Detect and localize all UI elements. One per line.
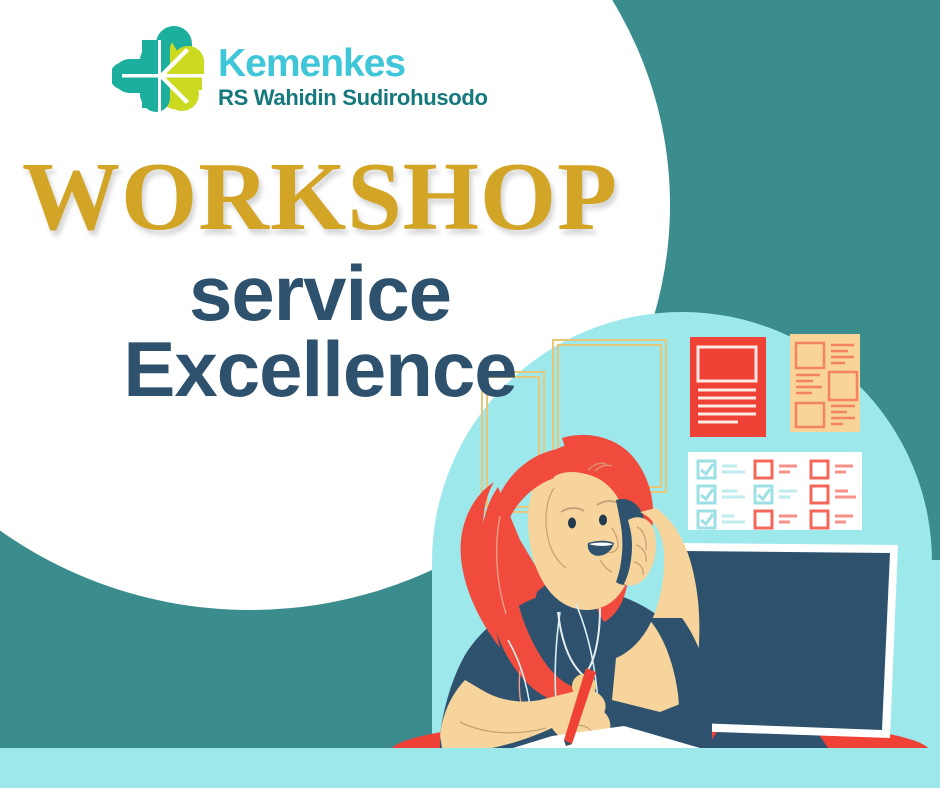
kemenkes-flower-logo-icon: [112, 24, 208, 128]
headline-service: service: [0, 254, 640, 334]
logo-text-block: Kemenkes RS Wahidin Sudirohusodo: [218, 44, 488, 109]
logo-subtitle: RS Wahidin Sudirohusodo: [218, 87, 488, 109]
bottom-accent-bar: [0, 748, 940, 788]
kemenkes-logo-block: Kemenkes RS Wahidin Sudirohusodo: [112, 24, 488, 128]
headline-block: WORKSHOP service Excellence: [0, 148, 640, 409]
poster-canvas: Kemenkes RS Wahidin Sudirohusodo WORKSHO…: [0, 0, 940, 788]
headline-workshop: WORKSHOP: [0, 148, 640, 246]
logo-title: Kemenkes: [218, 44, 488, 83]
headline-excellence: Excellence: [0, 330, 640, 410]
